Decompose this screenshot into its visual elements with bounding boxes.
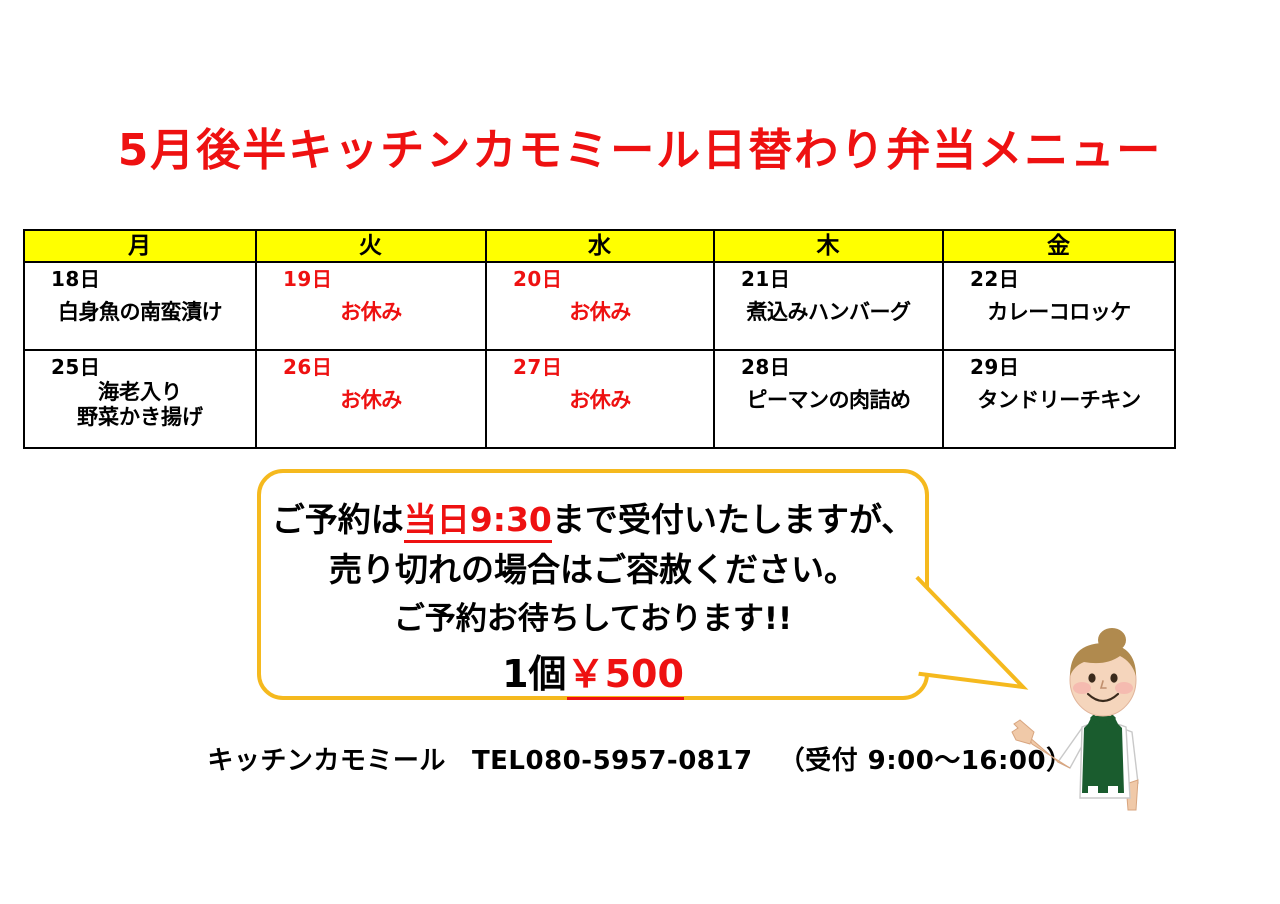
day-number: 20日: [487, 263, 713, 290]
day-number: 21日: [715, 263, 942, 290]
closed-label: お休み: [487, 300, 713, 325]
dish-name: 海老入り 野菜かき揚げ: [25, 380, 255, 430]
column-header-tuesday: 火: [256, 230, 486, 262]
price-value: ￥500: [567, 652, 684, 700]
bubble-line1-suffix: まで受付いたしますが、: [552, 500, 914, 539]
dish-name: タンドリーチキン: [944, 388, 1174, 413]
waving-hand: [1012, 720, 1034, 744]
dish-name-line1: 海老入り: [25, 380, 255, 405]
table-header-row: 月 火 水 木 金: [24, 230, 1175, 262]
phone-number: TEL080-5957-0817: [472, 746, 753, 776]
menu-cell-27: 27日 お休み: [486, 350, 714, 448]
cheek-left: [1073, 682, 1091, 694]
bubble-line-1: ご予約は当日9:30まで受付いたしますが、: [261, 493, 925, 541]
price-quantity-label: 1個: [502, 652, 566, 696]
eye-right: [1110, 673, 1117, 682]
column-header-friday: 金: [943, 230, 1175, 262]
hair-bun: [1098, 628, 1126, 652]
dish-name-line2: 野菜かき揚げ: [25, 405, 255, 430]
menu-cell-18: 18日 白身魚の南蛮漬け: [24, 262, 256, 350]
dish-name: カレーコロッケ: [944, 300, 1174, 325]
day-number: 18日: [25, 263, 255, 290]
eye-left: [1088, 673, 1095, 682]
day-number: 19日: [257, 263, 485, 290]
page-title: 5月後半キッチンカモミール日替わり弁当メニュー: [0, 114, 1280, 178]
column-header-monday: 月: [24, 230, 256, 262]
shop-name: キッチンカモミール: [207, 746, 446, 776]
closed-label: お休み: [257, 300, 485, 325]
staff-woman-illustration: [1008, 628, 1198, 848]
closed-label: お休み: [257, 388, 485, 413]
dish-name: ピーマンの肉詰め: [715, 388, 942, 413]
menu-cell-21: 21日 煮込みハンバーグ: [714, 262, 943, 350]
apron: [1082, 716, 1124, 793]
cheek-right: [1115, 682, 1133, 694]
menu-cell-25: 25日 海老入り 野菜かき揚げ: [24, 350, 256, 448]
dish-name: 白身魚の南蛮漬け: [25, 300, 255, 325]
column-header-wednesday: 水: [486, 230, 714, 262]
day-number: 28日: [715, 351, 942, 378]
menu-cell-20: 20日 お休み: [486, 262, 714, 350]
menu-cell-28: 28日 ピーマンの肉詰め: [714, 350, 943, 448]
menu-cell-29: 29日 タンドリーチキン: [943, 350, 1175, 448]
dish-name: 煮込みハンバーグ: [715, 300, 942, 325]
day-number: 26日: [257, 351, 485, 378]
weekly-menu-table: 月 火 水 木 金 18日 白身魚の南蛮漬け 19日 お休み 20日 お休み 2…: [23, 229, 1176, 449]
day-number: 22日: [944, 263, 1174, 290]
menu-cell-26: 26日 お休み: [256, 350, 486, 448]
day-number: 29日: [944, 351, 1174, 378]
bubble-line-3: ご予約お待ちしております!!: [261, 593, 925, 638]
menu-cell-19: 19日 お休み: [256, 262, 486, 350]
bubble-line-4: 1個￥500: [261, 643, 925, 698]
table-row: 18日 白身魚の南蛮漬け 19日 お休み 20日 お休み 21日 煮込みハンバー…: [24, 262, 1175, 350]
closed-label: お休み: [487, 388, 713, 413]
bubble-line1-prefix: ご予約は: [272, 500, 404, 539]
day-number: 27日: [487, 351, 713, 378]
table-row: 25日 海老入り 野菜かき揚げ 26日 お休み 27日 お休み 28日 ピーマン…: [24, 350, 1175, 448]
bubble-line-2: 売り切れの場合はご容赦ください。: [261, 543, 925, 591]
reservation-notice-bubble: ご予約は当日9:30まで受付いたしますが、 売り切れの場合はご容赦ください。 ご…: [257, 469, 929, 700]
column-header-thursday: 木: [714, 230, 943, 262]
menu-cell-22: 22日 カレーコロッケ: [943, 262, 1175, 350]
day-number: 25日: [25, 351, 255, 378]
reservation-cutoff-time: 当日9:30: [404, 500, 552, 543]
